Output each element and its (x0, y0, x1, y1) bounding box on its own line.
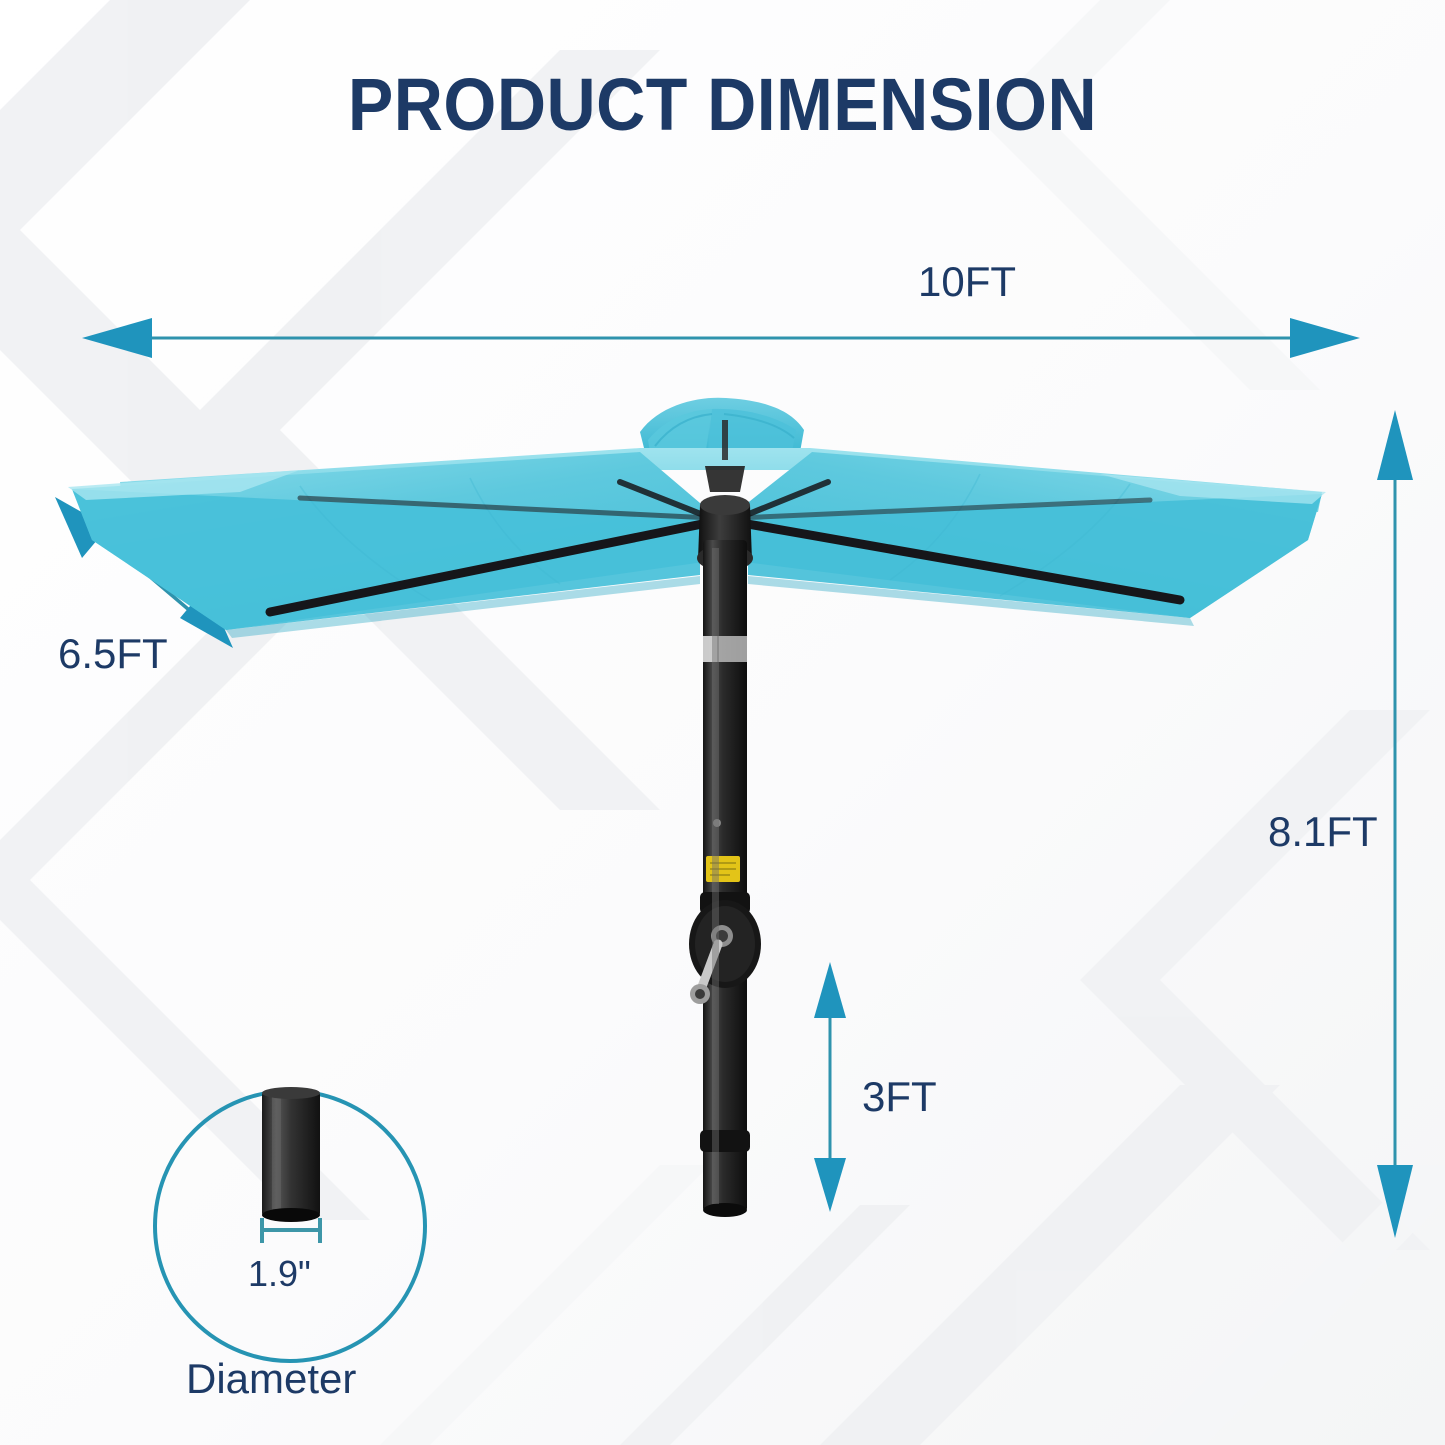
umbrella-pole (689, 540, 761, 1217)
dimension-arrow-width (82, 318, 1360, 358)
inset-measure-label: 1.9" (248, 1253, 311, 1295)
dimension-label-depth: 6.5FT (58, 630, 168, 678)
diameter-inset (155, 1087, 425, 1361)
diagram-artwork (0, 0, 1445, 1445)
inset-pole-sample (262, 1087, 320, 1222)
canopy-fabric (68, 448, 1326, 638)
dimension-label-pole-clearance: 3FT (862, 1073, 937, 1121)
dimension-arrow-pole-clearance (814, 962, 846, 1212)
inset-caption: Diameter (186, 1355, 356, 1403)
dimension-arrow-height (1377, 410, 1413, 1238)
product-dimension-diagram: PRODUCT DIMENSION (0, 0, 1445, 1445)
caliper-icon (262, 1220, 320, 1241)
dimension-label-height: 8.1FT (1268, 808, 1378, 856)
dimension-label-width: 10FT (918, 258, 1016, 306)
